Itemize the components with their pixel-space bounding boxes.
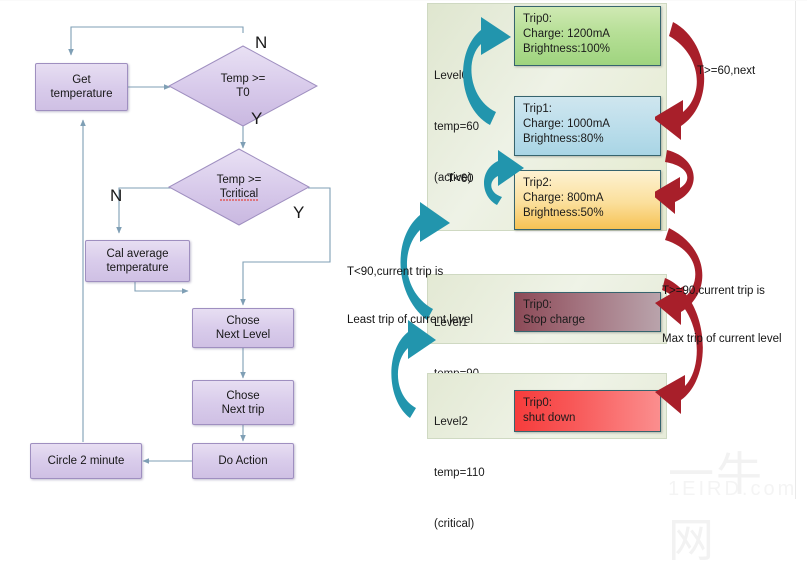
annotation-t-lt-90-line1: T<90,current trip is bbox=[347, 264, 473, 280]
flow-node-cal-average-temperature-label: Cal average temperature bbox=[106, 247, 168, 275]
flow-node-temp-ge-tcritical-label: Temp >= Tcritical bbox=[217, 173, 262, 201]
flow-node-temp-ge-t0[interactable]: Temp >= T0 bbox=[168, 45, 318, 127]
flow-node-get-temperature[interactable]: Get temperature bbox=[35, 63, 128, 111]
flow-node-temp-ge-tcritical[interactable]: Temp >= Tcritical bbox=[168, 148, 310, 226]
annotation-t-ge-60-next: T>=60,next bbox=[697, 63, 755, 79]
branch-label-t0-no: N bbox=[255, 33, 267, 53]
flow-node-circle-2-minute-label: Circle 2 minute bbox=[48, 454, 125, 468]
diagram-canvas: Get temperature Temp >= T0 bbox=[0, 0, 807, 499]
annotation-t-lt-90-line2: Least trip of current level bbox=[347, 312, 473, 328]
flow-node-chose-next-level-label: Chose Next Level bbox=[216, 314, 270, 342]
annotation-t-ge-90-line1: T>=90,current trip is bbox=[662, 283, 782, 299]
flow-node-do-action[interactable]: Do Action bbox=[192, 443, 294, 479]
red-arrow-trip1-to-trip2 bbox=[655, 150, 694, 214]
flow-node-do-action-label: Do Action bbox=[218, 454, 267, 468]
annotation-t-lt-90: T<90,current trip is Least trip of curre… bbox=[347, 232, 473, 360]
watermark-domain: 1EIRD.com bbox=[668, 478, 797, 501]
level2-state: (critical) bbox=[434, 516, 485, 533]
annotation-t-ge-90: T>=90,current trip is Max trip of curren… bbox=[662, 251, 782, 379]
annotation-t-ge-90-line2: Max trip of current level bbox=[662, 331, 782, 347]
flow-node-get-temperature-label: Get temperature bbox=[50, 73, 112, 101]
branch-label-tcritical-yes: Y bbox=[293, 203, 304, 223]
flow-node-temp-ge-t0-label: Temp >= T0 bbox=[221, 72, 266, 100]
misspelled-word: Tcritical bbox=[220, 188, 258, 202]
watermark-logo: 一牛网 bbox=[668, 438, 807, 570]
branch-label-t0-yes: Y bbox=[251, 109, 262, 129]
branch-label-tcritical-no: N bbox=[110, 186, 122, 206]
flow-node-circle-2-minute[interactable]: Circle 2 minute bbox=[30, 443, 142, 479]
red-arrow-trip0-to-trip1 bbox=[655, 22, 704, 140]
flow-node-chose-next-trip-label: Chose Next trip bbox=[222, 389, 265, 417]
teal-arrow-trip1-to-trip0 bbox=[463, 17, 511, 125]
flow-node-cal-average-temperature[interactable]: Cal average temperature bbox=[85, 240, 190, 282]
flow-node-chose-next-level[interactable]: Chose Next Level bbox=[192, 308, 294, 348]
teal-arrow-trip2-to-trip1 bbox=[484, 150, 524, 205]
flow-node-chose-next-trip[interactable]: Chose Next trip bbox=[192, 380, 294, 425]
